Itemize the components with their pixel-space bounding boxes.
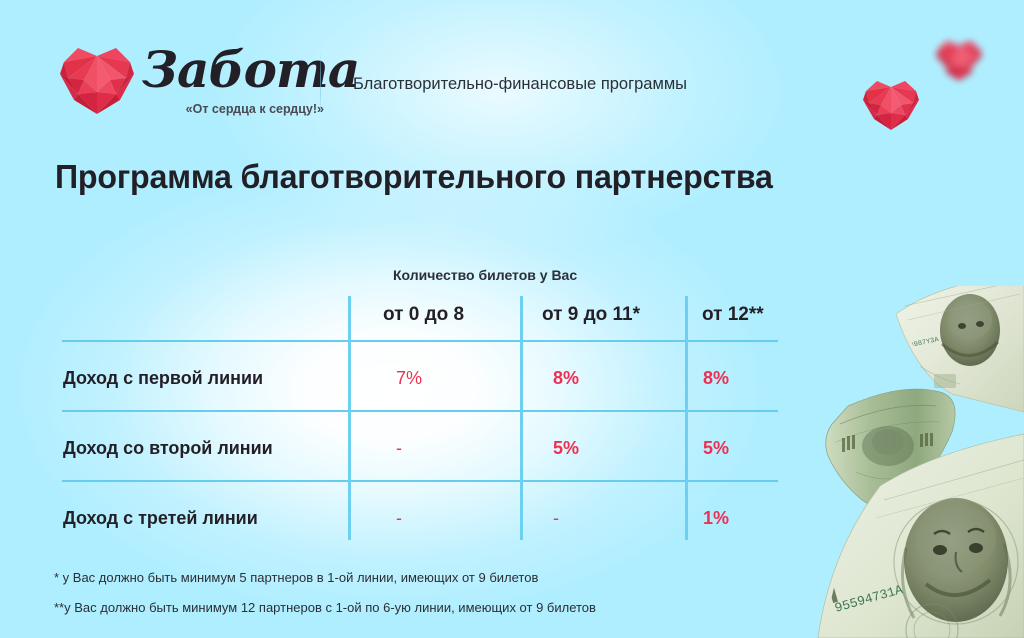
table-column-divider: [520, 296, 523, 540]
table-row-label: Доход с третей линии: [63, 507, 258, 529]
faceted-heart-icon: [58, 44, 136, 120]
table-cell-rate: 1%: [703, 508, 729, 529]
table-cell-rate: -: [396, 508, 402, 529]
table-rule: [62, 340, 778, 342]
brand-wordmark: Забота: [142, 40, 304, 100]
table-column-divider: [685, 296, 688, 540]
dollar-bills-illustration: 99987Y3A: [784, 286, 1024, 638]
footnote: * у Вас должно быть минимум 5 партнеров …: [54, 570, 538, 585]
table-cell-rate: 8%: [553, 368, 579, 389]
table-column-header: от 12**: [702, 304, 764, 326]
page-title: Программа благотворительного партнерства: [55, 158, 773, 196]
table-column-divider: [348, 296, 351, 540]
page-header: Забота «От сердца к сердцу!» Благотворит…: [0, 0, 1024, 140]
partnership-rates-table: Количество билетов у Вас от 0 до 8 от 9 …: [62, 262, 778, 540]
heart-icon: [862, 78, 920, 134]
table-cell-rate: -: [553, 508, 559, 529]
table-cell-rate: -: [396, 438, 402, 459]
heart-icon-blurred: [935, 38, 983, 84]
header-subtitle: Благотворительно-финансовые программы: [353, 75, 687, 94]
svg-text:95594731A: 95594731A: [833, 582, 905, 616]
table-group-header: Количество билетов у Вас: [393, 267, 577, 283]
brand-logo[interactable]: Забота «От сердца к сердцу!»: [58, 42, 303, 124]
table-column-header: от 9 до 11*: [542, 304, 640, 326]
table-row-label: Доход с первой линии: [63, 367, 263, 389]
svg-text:99987Y3A: 99987Y3A: [905, 336, 940, 351]
footnote: **у Вас должно быть минимум 12 партнеров…: [54, 600, 596, 615]
table-rule: [62, 480, 778, 482]
table-cell-rate: 5%: [703, 438, 729, 459]
table-cell-rate: 5%: [553, 438, 579, 459]
table-rule: [62, 410, 778, 412]
brand-tagline: «От сердца к сердцу!»: [144, 102, 324, 116]
table-cell-rate: 7%: [396, 368, 422, 389]
infographic-canvas: Забота «От сердца к сердцу!» Благотворит…: [0, 0, 1024, 638]
table-row-label: Доход со второй линии: [63, 437, 273, 459]
table-cell-rate: 8%: [703, 368, 729, 389]
header-divider: [320, 50, 321, 116]
table-column-header: от 0 до 8: [383, 304, 464, 326]
